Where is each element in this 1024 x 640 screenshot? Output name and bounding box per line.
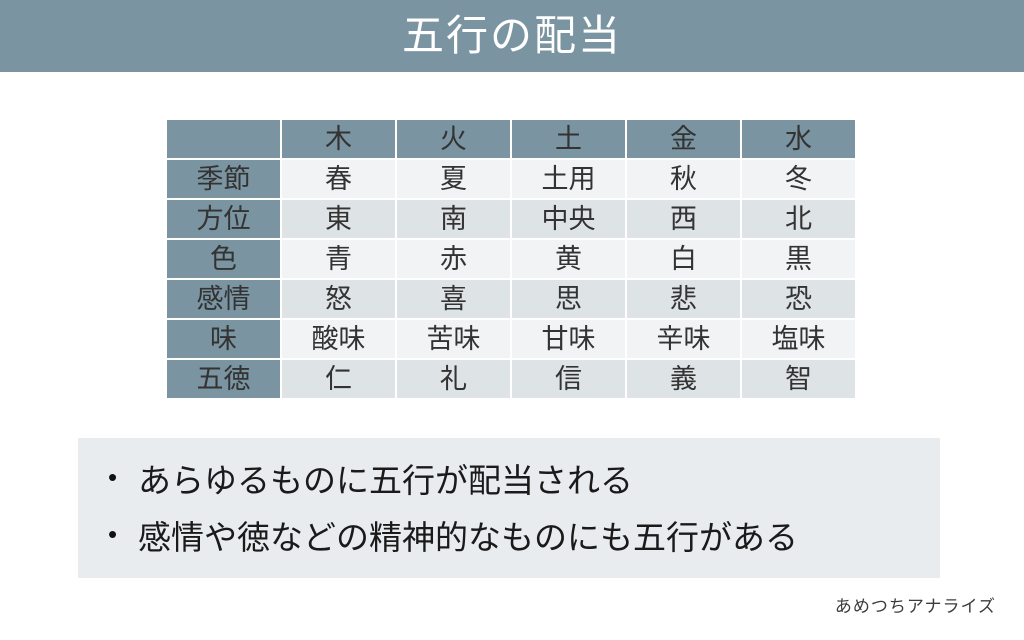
- table-cell: 酸味: [282, 320, 395, 358]
- table-row: 五徳 仁 礼 信 義 智: [167, 360, 855, 398]
- row-label-color: 色: [167, 240, 280, 278]
- table-row: 感情 怒 喜 思 悲 恐: [167, 280, 855, 318]
- table-cell: 南: [397, 200, 510, 238]
- table-row: 方位 東 南 中央 西 北: [167, 200, 855, 238]
- bullet-list: • あらゆるものに五行が配当される • 感情や徳などの精神的なものにも五行がある: [108, 460, 940, 559]
- table-cell: 冬: [742, 160, 855, 198]
- table-cell: 土用: [512, 160, 625, 198]
- five-elements-table-container: 木 火 土 金 水 季節 春 夏 土用 秋 冬 方位 東 南 中央 西: [165, 118, 855, 400]
- table-cell: 黒: [742, 240, 855, 278]
- table-column-header-wood: 木: [282, 120, 395, 158]
- row-label-taste: 味: [167, 320, 280, 358]
- row-label-virtue: 五徳: [167, 360, 280, 398]
- row-label-direction: 方位: [167, 200, 280, 238]
- table-row: 色 青 赤 黄 白 黒: [167, 240, 855, 278]
- table-cell: 怒: [282, 280, 395, 318]
- table-header-row: 木 火 土 金 水: [167, 120, 855, 158]
- bullet-text: 感情や徳などの精神的なものにも五行がある: [138, 517, 940, 558]
- row-label-season: 季節: [167, 160, 280, 198]
- table-cell: 信: [512, 360, 625, 398]
- table-cell: 青: [282, 240, 395, 278]
- table-row: 季節 春 夏 土用 秋 冬: [167, 160, 855, 198]
- bullet-marker-icon: •: [108, 460, 138, 495]
- table-cell: 喜: [397, 280, 510, 318]
- table-cell: 義: [627, 360, 740, 398]
- table-cell: 礼: [397, 360, 510, 398]
- table-column-header-earth: 土: [512, 120, 625, 158]
- table-cell: 辛味: [627, 320, 740, 358]
- list-item: • 感情や徳などの精神的なものにも五行がある: [108, 517, 940, 558]
- summary-panel: • あらゆるものに五行が配当される • 感情や徳などの精神的なものにも五行がある: [78, 438, 940, 578]
- table-cell: 夏: [397, 160, 510, 198]
- slide-title-band: 五行の配当: [0, 0, 1024, 72]
- table-cell: 仁: [282, 360, 395, 398]
- bullet-marker-icon: •: [108, 517, 138, 552]
- table-cell: 赤: [397, 240, 510, 278]
- table-cell: 思: [512, 280, 625, 318]
- bullet-text: あらゆるものに五行が配当される: [138, 460, 940, 501]
- table-cell: 白: [627, 240, 740, 278]
- table-cell: 北: [742, 200, 855, 238]
- table-cell: 悲: [627, 280, 740, 318]
- table-cell: 東: [282, 200, 395, 238]
- page-title: 五行の配当: [402, 15, 622, 57]
- table-cell: 甘味: [512, 320, 625, 358]
- table-cell: 智: [742, 360, 855, 398]
- table-cell: 春: [282, 160, 395, 198]
- table-row: 味 酸味 苦味 甘味 辛味 塩味: [167, 320, 855, 358]
- table-cell: 西: [627, 200, 740, 238]
- table-corner-cell: [167, 120, 280, 158]
- row-label-emotion: 感情: [167, 280, 280, 318]
- five-elements-table: 木 火 土 金 水 季節 春 夏 土用 秋 冬 方位 東 南 中央 西: [165, 118, 857, 400]
- table-cell: 塩味: [742, 320, 855, 358]
- table-column-header-fire: 火: [397, 120, 510, 158]
- table-cell: 苦味: [397, 320, 510, 358]
- table-column-header-water: 水: [742, 120, 855, 158]
- list-item: • あらゆるものに五行が配当される: [108, 460, 940, 501]
- table-cell: 中央: [512, 200, 625, 238]
- table-cell: 恐: [742, 280, 855, 318]
- table-cell: 秋: [627, 160, 740, 198]
- footer-credit: あめつちアナライズ: [835, 598, 996, 615]
- table-column-header-metal: 金: [627, 120, 740, 158]
- table-cell: 黄: [512, 240, 625, 278]
